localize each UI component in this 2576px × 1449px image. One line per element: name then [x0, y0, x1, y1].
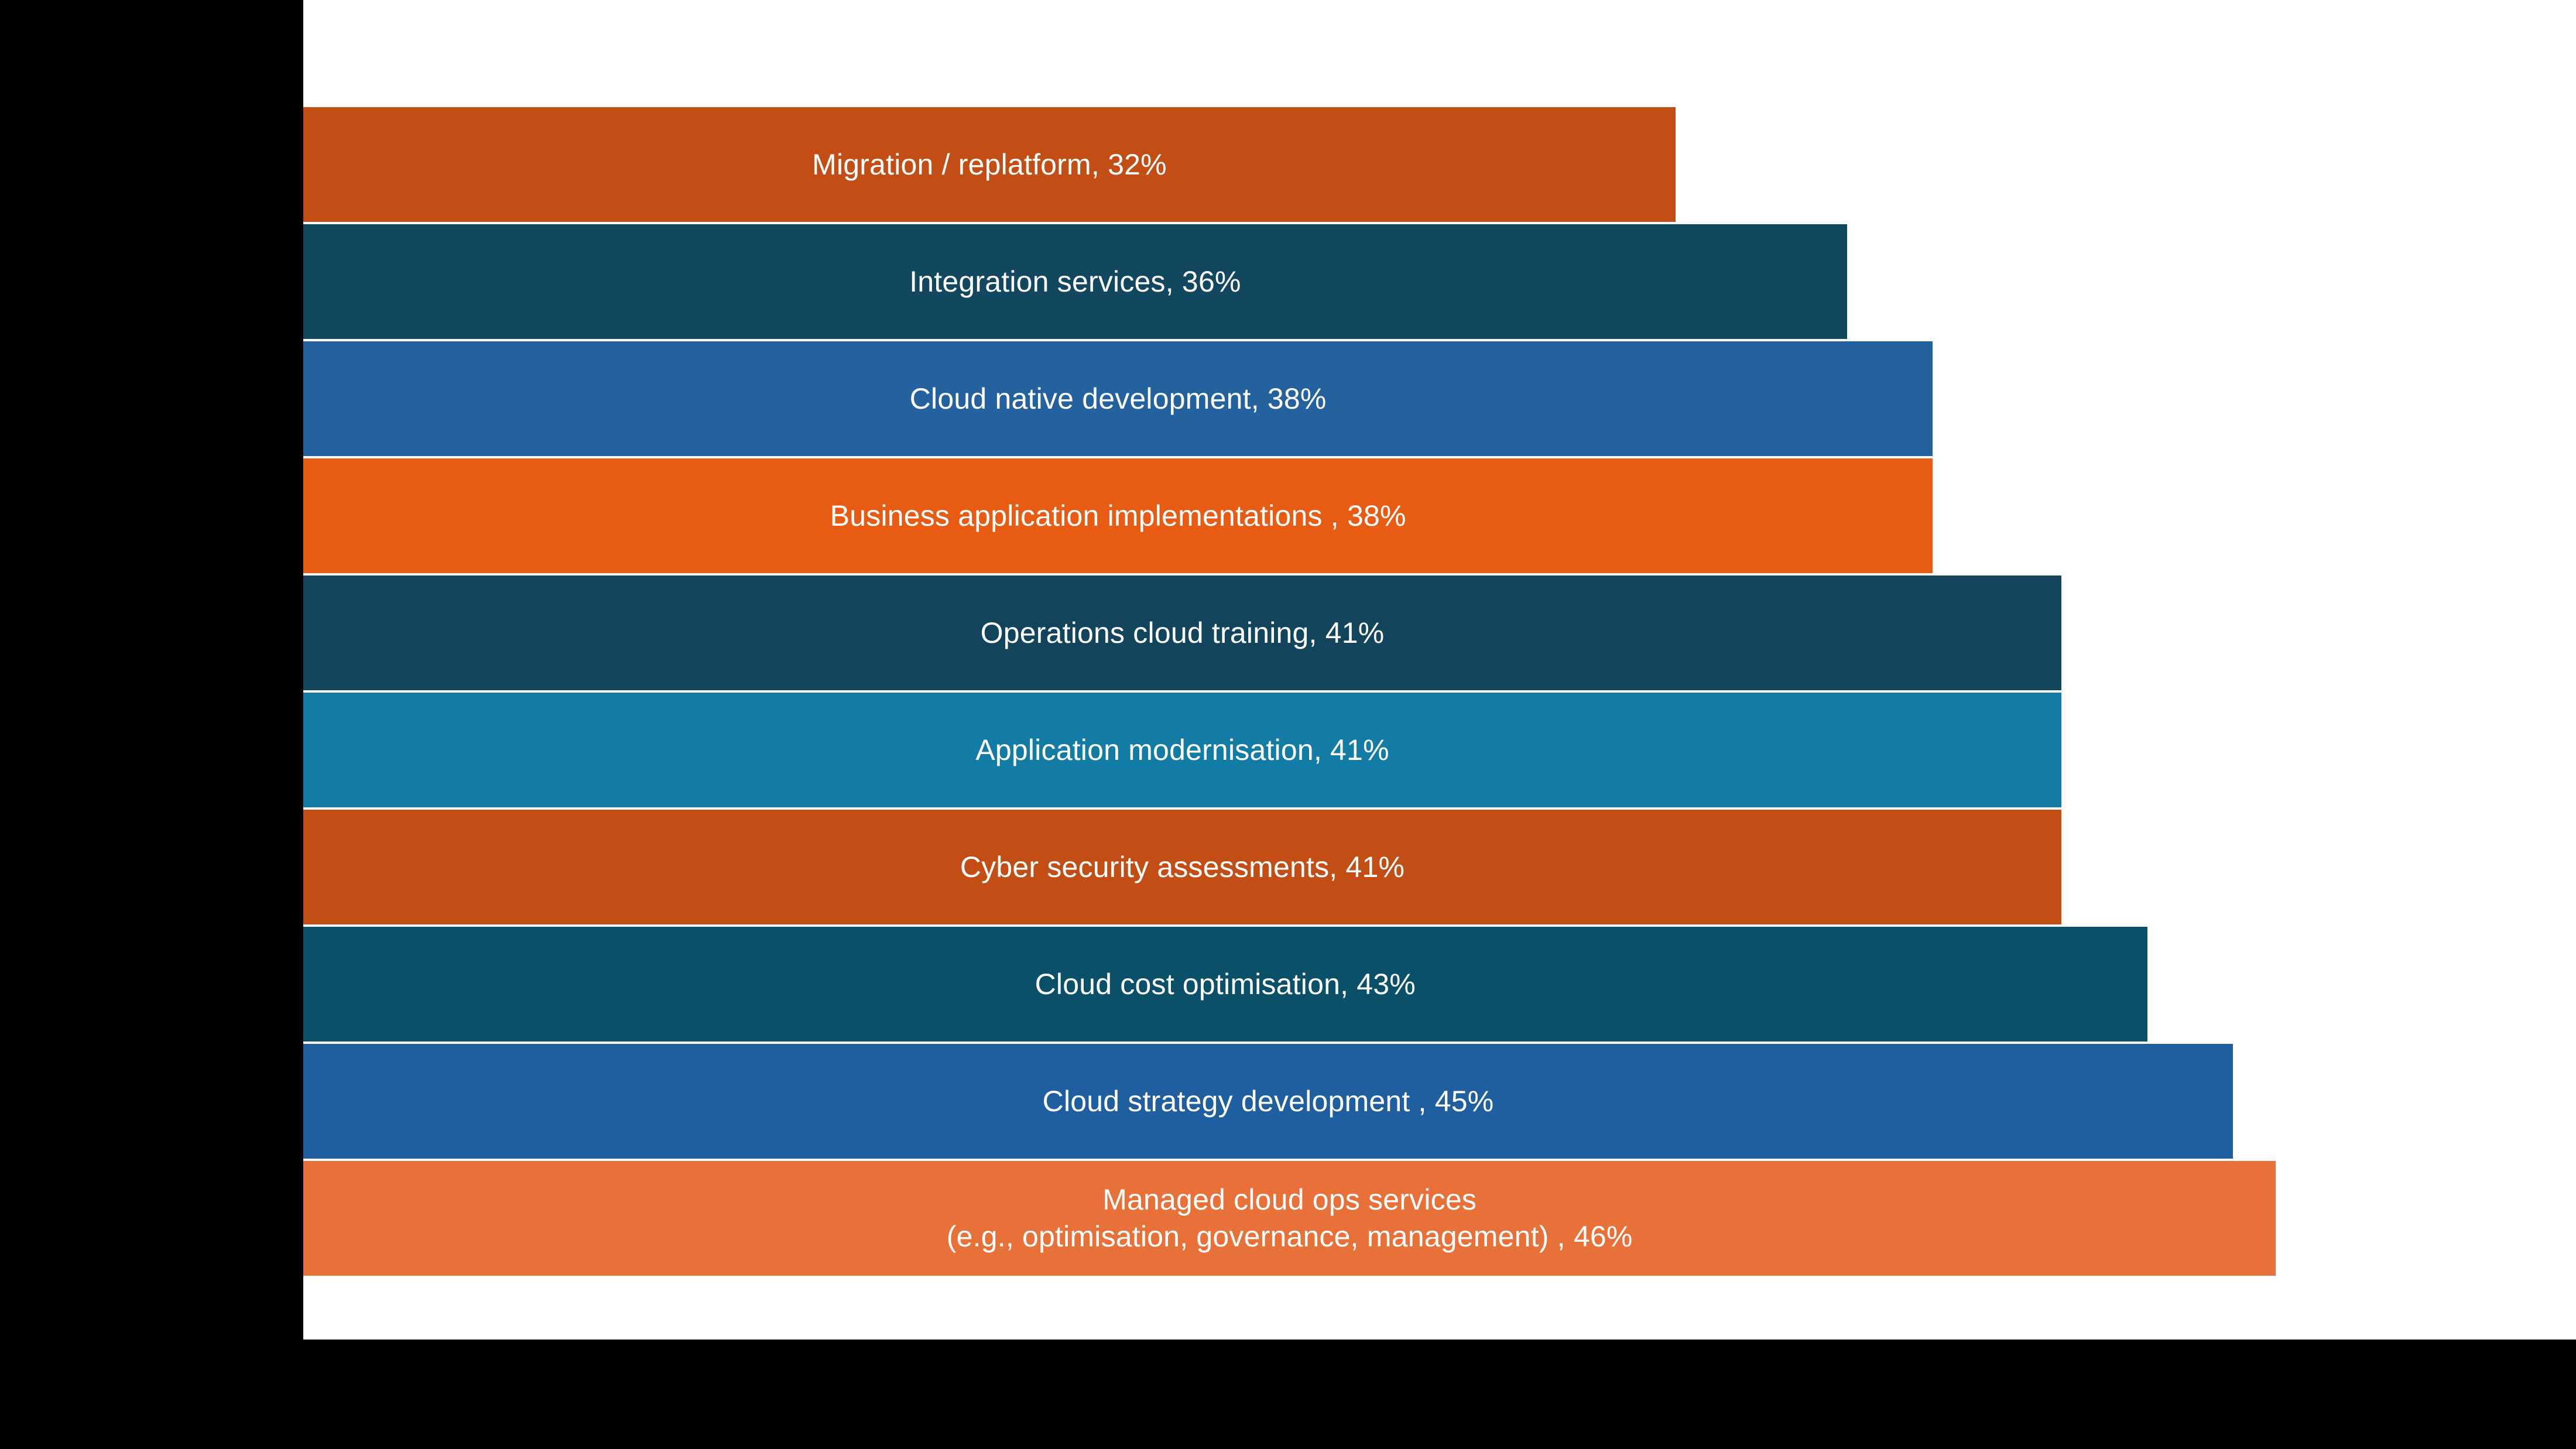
- bar-row: Cloud native development, 38%: [303, 341, 2576, 456]
- bar-data-label: Cyber security assessments, 41%: [954, 849, 1410, 886]
- bar-segment[interactable]: Migration / replatform, 32%: [303, 107, 1676, 222]
- bar-row: Cloud strategy development , 45%: [303, 1044, 2576, 1159]
- bar-segment[interactable]: Operations cloud training, 41%: [303, 576, 2061, 690]
- chart-panel: Migration / replatform, 32%Integration s…: [303, 0, 2576, 1340]
- bar-row: Cloud cost optimisation, 43%: [303, 927, 2576, 1042]
- bar-data-label: Business application implementations , 3…: [824, 498, 1412, 535]
- bar-segment[interactable]: Cloud native development, 38%: [303, 341, 1933, 456]
- bar-segment[interactable]: Business application implementations , 3…: [303, 458, 1933, 573]
- bar-segment[interactable]: Cloud strategy development , 45%: [303, 1044, 2233, 1159]
- bar-data-label: Application modernisation, 41%: [970, 732, 1395, 769]
- bar-segment[interactable]: Cyber security assessments, 41%: [303, 810, 2061, 924]
- bar-segment[interactable]: Application modernisation, 41%: [303, 693, 2061, 807]
- bar-row: Integration services, 36%: [303, 224, 2576, 339]
- bar-data-label: Managed cloud ops services (e.g., optimi…: [941, 1181, 1639, 1255]
- screenshot-canvas: Migration / replatform, 32%Integration s…: [0, 0, 2576, 1449]
- bar-data-label: Migration / replatform, 32%: [806, 146, 1173, 183]
- bar-data-label: Integration services, 36%: [903, 263, 1246, 300]
- bar-segment[interactable]: Managed cloud ops services (e.g., optimi…: [303, 1161, 2276, 1276]
- bar-row: Migration / replatform, 32%: [303, 107, 2576, 222]
- bar-data-label: Cloud strategy development , 45%: [1037, 1083, 1500, 1120]
- bar-chart-plot-area: Migration / replatform, 32%Integration s…: [303, 107, 2576, 1278]
- bar-row: Managed cloud ops services (e.g., optimi…: [303, 1161, 2576, 1276]
- bar-row: Application modernisation, 41%: [303, 693, 2576, 807]
- bar-row: Business application implementations , 3…: [303, 458, 2576, 573]
- bar-segment[interactable]: Cloud cost optimisation, 43%: [303, 927, 2147, 1042]
- bar-row: Cyber security assessments, 41%: [303, 810, 2576, 924]
- bar-data-label: Operations cloud training, 41%: [975, 615, 1390, 652]
- bar-segment[interactable]: Integration services, 36%: [303, 224, 1847, 339]
- bar-data-label: Cloud cost optimisation, 43%: [1029, 966, 1421, 1003]
- bar-data-label: Cloud native development, 38%: [904, 381, 1332, 417]
- bar-row: Operations cloud training, 41%: [303, 576, 2576, 690]
